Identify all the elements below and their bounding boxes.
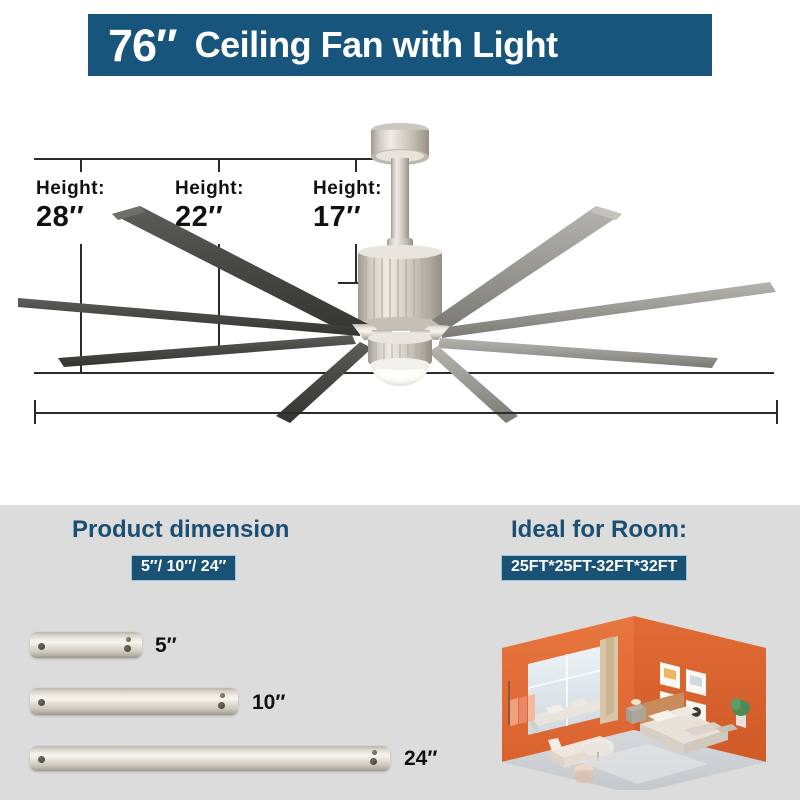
- product-dimension-badge: 5″/ 10″/ 24″: [131, 555, 236, 581]
- ideal-room-heading: Ideal for Room:: [511, 516, 687, 544]
- downrod-10in-label: 10″: [252, 691, 285, 715]
- ideal-room-illustration: [488, 612, 780, 790]
- ideal-room-badge: 25FT*25FT-32FT*32FT: [501, 555, 687, 581]
- downrod-hole: [126, 637, 131, 642]
- diameter-left-terminator: [34, 400, 36, 424]
- table-lamp: [631, 699, 641, 705]
- fan-blade: [58, 335, 356, 367]
- page-title: Ceiling Fan with Light: [195, 27, 558, 63]
- product-dimension-heading: Product dimension: [72, 516, 289, 544]
- downrod-hole: [220, 693, 225, 698]
- downrod-5in: [30, 632, 142, 658]
- downrod-24in-label: 24″: [404, 747, 437, 771]
- fan-blade: [438, 338, 718, 368]
- header-banner: 76″ Ceiling Fan with Light: [88, 14, 712, 76]
- clothes-rack: [508, 681, 510, 725]
- fan-motor-housing: [358, 245, 442, 331]
- downrod-hole: [38, 643, 45, 650]
- diameter-right-terminator: [776, 400, 778, 424]
- downrod-hole: [38, 699, 45, 706]
- downrod-hole: [372, 750, 377, 755]
- diameter-dimension-line: [34, 412, 778, 414]
- downrod-hole: [124, 645, 131, 652]
- fan-blade: [276, 342, 372, 423]
- fan-light-kit: [368, 332, 432, 386]
- downrod-24in: [30, 746, 390, 771]
- ceiling-fan-illustration: [0, 86, 800, 426]
- downrod-hole: [370, 758, 377, 765]
- fan-downrod: [391, 158, 409, 243]
- fan-dimension-diagram: Height: 28′′ Height: 22′′ Height: 17′′: [0, 86, 800, 505]
- downrod-hole: [218, 702, 225, 709]
- downrod-5in-label: 5″: [155, 634, 177, 658]
- header-size-label: 76″: [108, 23, 177, 68]
- downrod-hole: [38, 756, 45, 763]
- downrod-10in: [30, 688, 238, 715]
